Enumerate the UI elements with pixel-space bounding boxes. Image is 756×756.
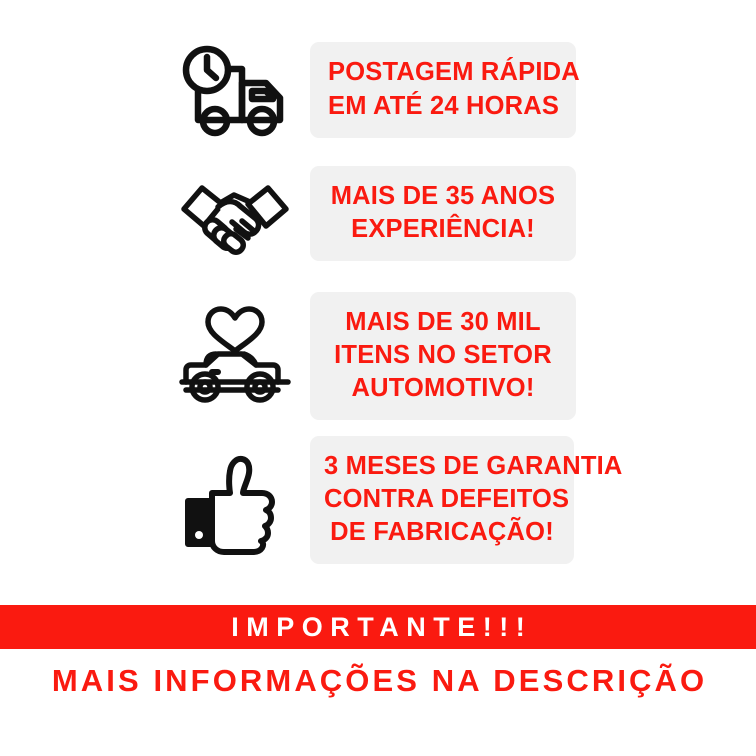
- feature-row-experience: MAIS DE 35 ANOS EXPERIÊNCIA!: [160, 166, 620, 261]
- feature-line: EXPERIÊNCIA!: [328, 213, 558, 246]
- feature-row-shipping: POSTAGEM RÁPIDA EM ATÉ 24 HORAS: [160, 42, 620, 138]
- feature-line: MAIS DE 30 MIL: [328, 306, 558, 339]
- feature-line: EM ATÉ 24 HORAS: [328, 90, 558, 123]
- feature-line: MAIS DE 35 ANOS: [328, 180, 558, 213]
- feature-line: POSTAGEM RÁPIDA: [328, 56, 558, 89]
- feature-row-catalog: MAIS DE 30 MIL ITENS NO SETOR AUTOMOTIVO…: [160, 292, 620, 420]
- features-list: POSTAGEM RÁPIDA EM ATÉ 24 HORAS: [0, 0, 756, 596]
- feature-line: DE FABRICAÇÃO!: [324, 516, 560, 549]
- feature-row-warranty: 3 MESES DE GARANTIA CONTRA DEFEITOS DE F…: [160, 436, 620, 564]
- feature-text-experience: MAIS DE 35 ANOS EXPERIÊNCIA!: [310, 166, 576, 261]
- feature-line: 3 MESES DE GARANTIA: [324, 450, 560, 483]
- feature-text-warranty: 3 MESES DE GARANTIA CONTRA DEFEITOS DE F…: [310, 436, 574, 564]
- feature-line: CONTRA DEFEITOS: [324, 483, 560, 516]
- feature-line: AUTOMOTIVO!: [328, 372, 558, 405]
- important-banner-text: IMPORTANTE!!!: [224, 612, 532, 643]
- car-heart-icon: [160, 304, 310, 408]
- description-callout-text: MAIS INFORMAÇÕES NA DESCRIÇÃO: [49, 663, 707, 699]
- feature-text-catalog: MAIS DE 30 MIL ITENS NO SETOR AUTOMOTIVO…: [310, 292, 576, 420]
- delivery-truck-clock-icon: [160, 42, 310, 138]
- feature-text-shipping: POSTAGEM RÁPIDA EM ATÉ 24 HORAS: [310, 42, 576, 137]
- important-banner: IMPORTANTE!!!: [0, 605, 756, 649]
- description-callout: MAIS INFORMAÇÕES NA DESCRIÇÃO: [0, 655, 756, 707]
- thumbs-up-icon: [160, 445, 310, 555]
- feature-line: ITENS NO SETOR: [328, 339, 558, 372]
- handshake-icon: [160, 169, 310, 259]
